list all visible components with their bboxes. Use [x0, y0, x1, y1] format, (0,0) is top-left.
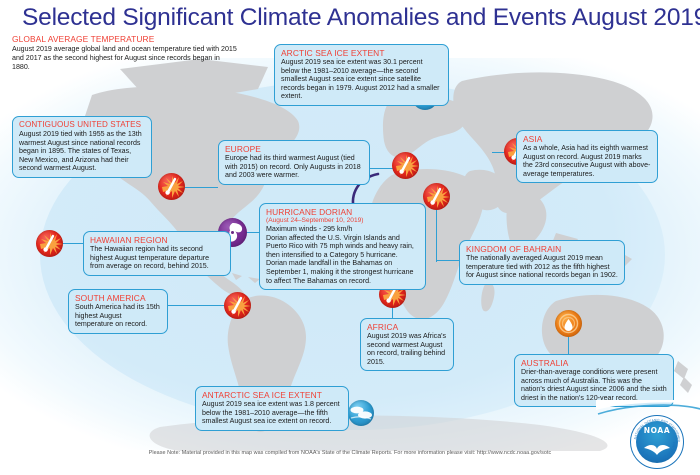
- callout-hawaiian-region[interactable]: HAWAIIAN REGION The Hawaiian region had …: [83, 231, 231, 276]
- callout-body: The Hawaiian region had its second highe…: [90, 245, 224, 271]
- callout-heading: CONTIGUOUS UNITED STATES: [19, 120, 145, 130]
- footer-note: Please Note: Material provided in this m…: [0, 450, 700, 456]
- marker-europe[interactable]: [392, 152, 419, 179]
- callout-antarctic-sea-ice-extent[interactable]: ANTARCTIC SEA ICE EXTENT August 2019 sea…: [195, 386, 349, 431]
- noaa-logo-bird-and-text: NATIONAL OCEANIC AND ATMOSPHERIC ADMINIS…: [630, 415, 684, 469]
- callout-heading: HAWAIIAN REGION: [90, 235, 224, 245]
- svg-text:NATIONAL OCEANIC AND ATMOSPHER: NATIONAL OCEANIC AND ATMOSPHERIC ADMINIS…: [630, 415, 681, 443]
- callout-global-average-temperature: GLOBAL AVERAGE TEMPERATURE August 2019 a…: [12, 34, 237, 72]
- callout-hurricane-dorian[interactable]: HURRICANE DORIAN (August 24–September 10…: [259, 203, 426, 290]
- leader-line-south-america: [166, 305, 224, 306]
- marker-bahrain[interactable]: [423, 183, 450, 210]
- callout-asia[interactable]: ASIA As a whole, Asia had its eighth war…: [516, 130, 658, 183]
- noaa-logo: NOAA NATIONAL OCEANIC AND ATMOSPHERIC AD…: [630, 415, 684, 469]
- callout-heading: ASIA: [523, 134, 651, 144]
- callout-subheading: (August 24–September 10, 2019): [266, 217, 419, 225]
- callout-body: Drier-than-average conditions were prese…: [521, 368, 667, 402]
- callout-heading: EUROPE: [225, 144, 363, 154]
- callout-heading: HURRICANE DORIAN: [266, 207, 419, 217]
- callout-body: August 2019 average global land and ocea…: [12, 45, 237, 72]
- callout-heading: KINGDOM OF BAHRAIN: [466, 244, 618, 254]
- callout-heading: ARCTIC SEA ICE EXTENT: [281, 48, 442, 58]
- drought-icon: [555, 310, 582, 337]
- callout-heading: ANTARCTIC SEA ICE EXTENT: [202, 390, 342, 400]
- leader-line-hawaii: [62, 243, 84, 244]
- callout-body: August 2019 tied with 1955 as the 13th w…: [19, 130, 145, 173]
- callout-body: Europe had its third warmest August (tie…: [225, 154, 363, 180]
- climate-anomalies-map: Selected Significant Climate Anomalies a…: [0, 0, 700, 475]
- callout-europe[interactable]: EUROPE Europe had its third warmest Augu…: [218, 140, 370, 185]
- callout-heading: SOUTH AMERICA: [75, 293, 161, 303]
- leader-line-us: [184, 187, 218, 188]
- heat-thermometer-icon: [423, 183, 450, 210]
- leader-line-bahrain: [436, 260, 460, 261]
- callout-africa[interactable]: AFRICA August 2019 was Africa's second w…: [360, 318, 454, 371]
- callout-body: The nationally averaged August 2019 mean…: [466, 254, 618, 280]
- callout-body: As a whole, Asia had its eighth warmest …: [523, 144, 651, 178]
- page-title: Selected Significant Climate Anomalies a…: [22, 4, 700, 32]
- marker-hawaii[interactable]: [36, 230, 63, 257]
- heat-thermometer-icon: [392, 152, 419, 179]
- callout-heading: AFRICA: [367, 322, 447, 332]
- callout-heading: GLOBAL AVERAGE TEMPERATURE: [12, 34, 237, 45]
- callout-contiguous-united-states[interactable]: CONTIGUOUS UNITED STATES August 2019 tie…: [12, 116, 152, 178]
- callout-heading: AUSTRALIA: [521, 358, 667, 368]
- heat-thermometer-icon: [158, 173, 185, 200]
- callout-arctic-sea-ice-extent[interactable]: ARCTIC SEA ICE EXTENT August 2019 sea ic…: [274, 44, 449, 106]
- callout-australia[interactable]: AUSTRALIA Drier-than-average conditions …: [514, 354, 674, 407]
- noaa-ring-top-text: NATIONAL OCEANIC AND ATMOSPHERIC ADMINIS…: [630, 415, 681, 443]
- callout-kingdom-of-bahrain[interactable]: KINGDOM OF BAHRAIN The nationally averag…: [459, 240, 625, 285]
- marker-contiguous-us[interactable]: [158, 173, 185, 200]
- leader-line-bahrain-v: [436, 210, 437, 262]
- marker-south-america[interactable]: [224, 292, 251, 319]
- callout-south-america[interactable]: SOUTH AMERICA South America had its 15th…: [68, 289, 168, 334]
- sea-ice-icon: [348, 400, 374, 426]
- callout-body: Maximum winds - 295 km/h Dorian affected…: [266, 225, 419, 285]
- marker-antarctic-sea-ice[interactable]: [348, 400, 374, 426]
- heat-thermometer-icon: [36, 230, 63, 257]
- marker-australia[interactable]: [555, 310, 582, 337]
- callout-body: August 2019 sea ice extent was 30.1 perc…: [281, 58, 442, 101]
- callout-body: August 2019 sea ice extent was 1.8 perce…: [202, 400, 342, 426]
- callout-body: August 2019 was Africa's second warmest …: [367, 332, 447, 366]
- callout-body: South America had its 15th highest Augus…: [75, 303, 161, 329]
- heat-thermometer-icon: [224, 292, 251, 319]
